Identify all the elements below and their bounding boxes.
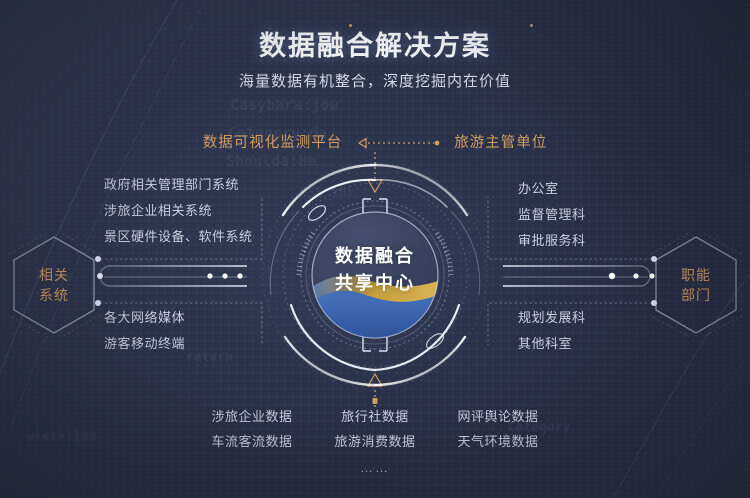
list-item[interactable]: 规划发展科 xyxy=(518,305,586,331)
list-item[interactable]: 涉旅企业数据 xyxy=(211,404,292,429)
list-item[interactable]: 其他科室 xyxy=(518,331,586,357)
list-item[interactable]: 车流客流数据 xyxy=(211,429,292,454)
hexagon-related-systems[interactable]: 相关 系统 xyxy=(8,233,100,337)
infographic-canvas: Casybara:jow Category:da Shoulda:He CSS_… xyxy=(0,0,750,498)
hexagon-right-line2: 部门 xyxy=(681,285,711,305)
hexagon-right-line1: 职能 xyxy=(681,265,711,285)
list-item[interactable]: 天气环境数据 xyxy=(458,429,539,454)
list-item[interactable]: 办公室 xyxy=(518,176,586,202)
label-tourism-authority[interactable]: 旅游主管单位 xyxy=(454,131,547,152)
bottom-column: 涉旅企业数据 车流客流数据 xyxy=(211,404,292,454)
top-connector-dot-left xyxy=(349,24,352,27)
background-watermark-text: return xyxy=(186,350,233,365)
list-item[interactable]: 游客移动终端 xyxy=(104,331,185,357)
list-item[interactable]: 涉旅企业相关系统 xyxy=(104,198,253,224)
label-visualization-platform[interactable]: 数据可视化监测平台 xyxy=(203,131,343,152)
list-item[interactable]: 监督管理科 xyxy=(518,202,586,228)
list-item[interactable]: 旅游消费数据 xyxy=(334,429,415,454)
list-item[interactable]: 政府相关管理部门系统 xyxy=(104,172,253,198)
right-bottom-label-group: 规划发展科 其他科室 xyxy=(518,305,586,357)
left-bottom-label-group: 各大网络媒体 游客移动终端 xyxy=(104,305,185,357)
list-item[interactable]: 审批服务科 xyxy=(518,228,586,254)
list-item[interactable]: 各大网络媒体 xyxy=(104,305,185,331)
page-subtitle: 海量数据有机整合，深度挖掘内在价值 xyxy=(0,70,750,91)
dotted-arrow-left-icon xyxy=(354,136,442,148)
top-connector-dot-right xyxy=(530,24,533,27)
right-top-label-group: 办公室 监督管理科 审批服务科 xyxy=(518,176,586,254)
hexagon-left-line1: 相关 xyxy=(39,265,69,285)
bottom-column: 网评舆论数据 天气环境数据 xyxy=(458,404,539,454)
list-item[interactable]: 旅行社数据 xyxy=(341,404,409,429)
data-fusion-hub[interactable]: 数据融合 共享中心 xyxy=(255,155,495,395)
list-item[interactable]: 网评舆论数据 xyxy=(458,404,539,429)
hexagon-functional-departments[interactable]: 职能 部门 xyxy=(650,233,742,337)
bottom-ellipsis: …… xyxy=(0,460,750,475)
hexagon-left-label: 相关 系统 xyxy=(8,233,100,337)
page-title: 数据融合解决方案 xyxy=(0,24,750,63)
top-label-row: 数据可视化监测平台 旅游主管单位 xyxy=(0,131,750,152)
bottom-column: 旅行社数据 旅游消费数据 xyxy=(334,404,415,454)
bottom-label-grid: 涉旅企业数据 车流客流数据 旅行社数据 旅游消费数据 网评舆论数据 天气环境数据 xyxy=(0,404,750,454)
background-watermark-text: Casybara:jow xyxy=(230,96,338,114)
hexagon-left-line2: 系统 xyxy=(39,285,69,305)
left-top-label-group: 政府相关管理部门系统 涉旅企业相关系统 景区硬件设备、软件系统 xyxy=(104,172,253,250)
list-item[interactable]: 景区硬件设备、软件系统 xyxy=(104,224,253,250)
hexagon-right-label: 职能 部门 xyxy=(650,233,742,337)
